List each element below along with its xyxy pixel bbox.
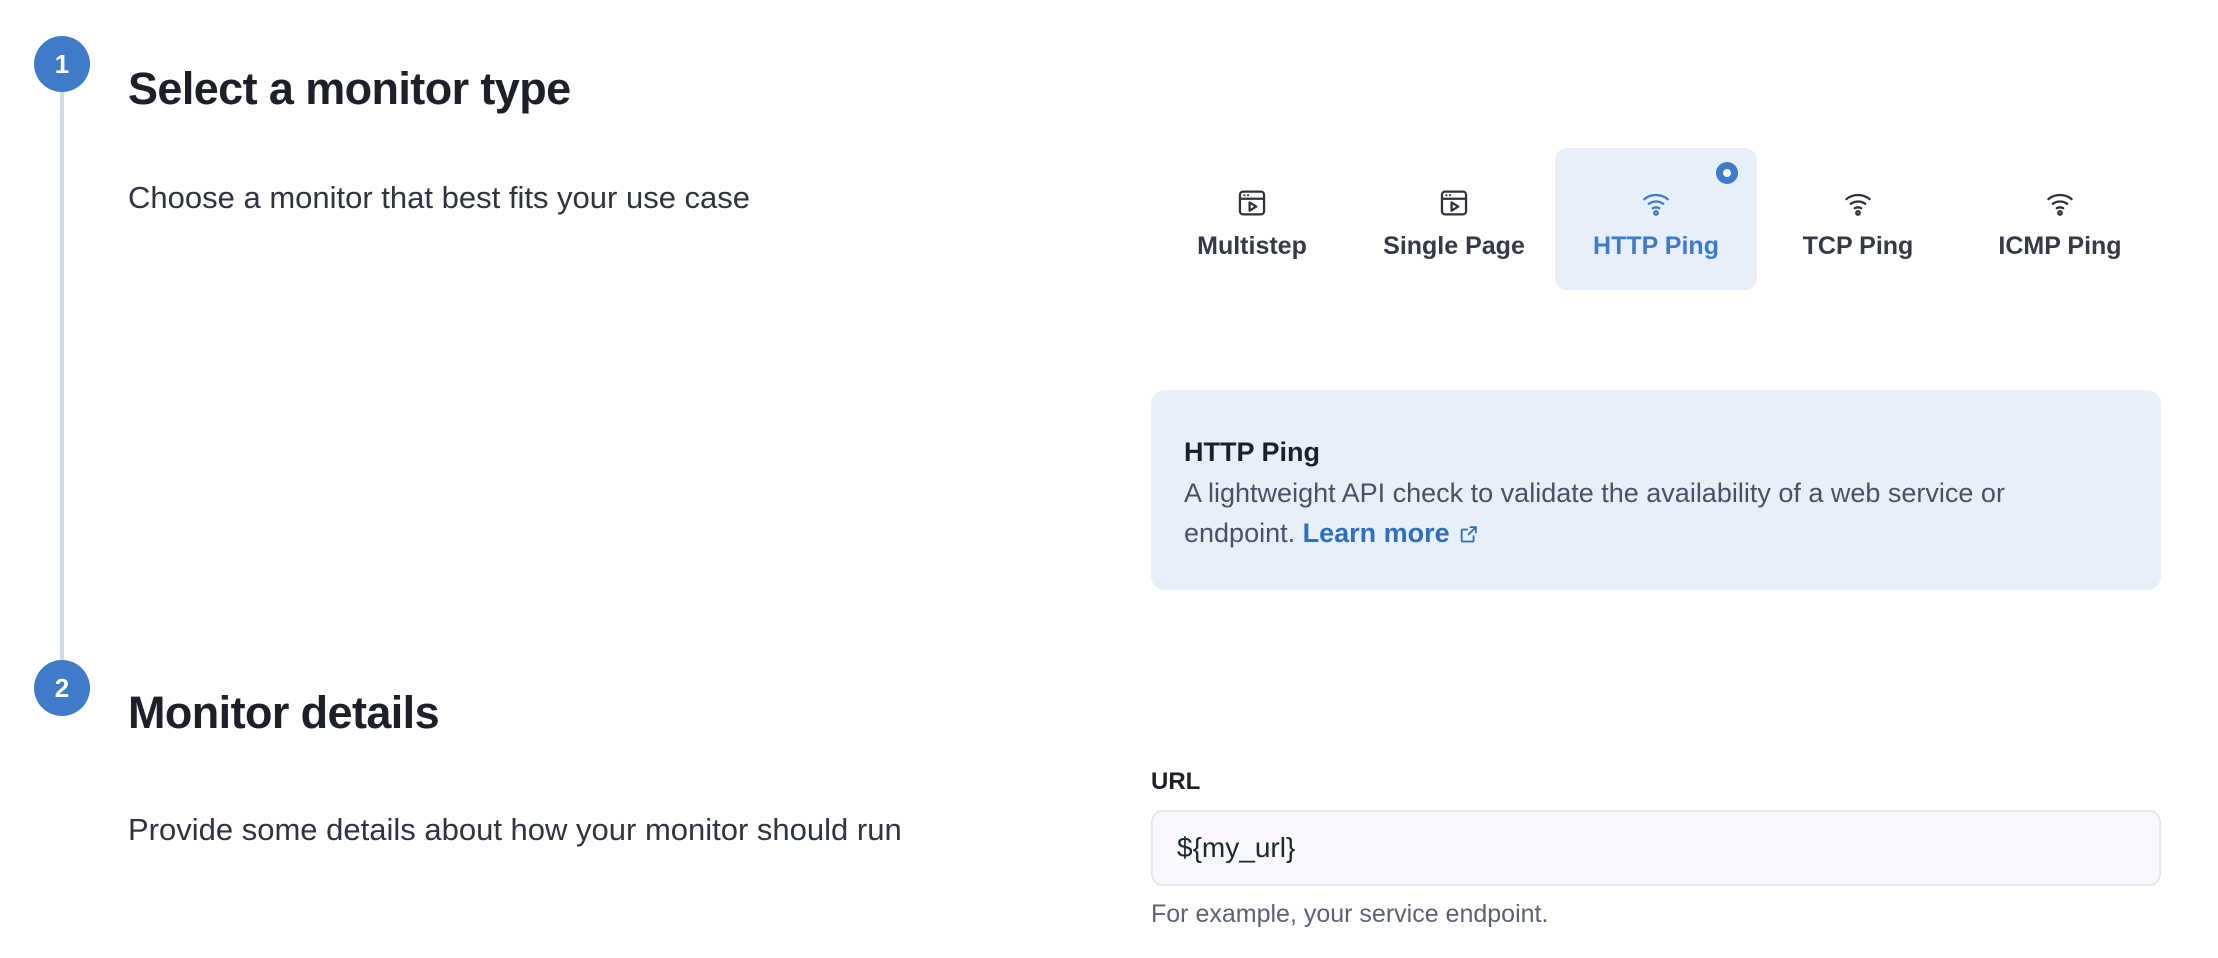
learn-more-link[interactable]: Learn more [1303,518,1450,548]
monitor-type-option-multistep[interactable]: Multistep [1151,148,1353,290]
wifi-icon [1639,186,1673,220]
step-2-title: Monitor details [128,688,439,738]
monitor-type-info-banner: HTTP Ping A lightweight API check to val… [1151,390,2161,590]
monitor-type-label: ICMP Ping [1998,234,2121,259]
stepper-rail: 1 2 [34,36,90,716]
external-link-icon[interactable] [1458,517,1480,539]
step-badge-1: 1 [34,36,90,92]
radio-selected-icon[interactable] [1716,162,1738,184]
step-number-2: 2 [55,675,69,701]
create-monitor-wizard: 1 2 Select a monitor type Choose a monit… [0,0,2218,958]
monitor-type-option-http-ping[interactable]: HTTP Ping [1555,148,1757,290]
step-1-subtitle: Choose a monitor that best fits your use… [128,179,750,216]
monitor-type-label: Multistep [1197,234,1307,259]
step-1-title: Select a monitor type [128,64,571,114]
url-field-group: URL ${my_url} For example, your service … [1151,770,2161,927]
info-banner-title: HTTP Ping [1184,434,2119,470]
monitor-type-label: Single Page [1383,234,1525,259]
monitor-type-option-tcp-ping[interactable]: TCP Ping [1757,148,1959,290]
monitor-type-selector: Multistep Single Page [1151,148,2161,290]
step-number-1: 1 [55,51,69,77]
monitor-type-option-single-page[interactable]: Single Page [1353,148,1555,290]
info-banner-description: A lightweight API check to validate the … [1184,474,2119,552]
url-field-help-text: For example, your service endpoint. [1151,902,2161,927]
wifi-icon [2043,186,2077,220]
browser-play-icon [1437,186,1471,220]
wifi-icon [1841,186,1875,220]
step-badge-2: 2 [34,660,90,716]
url-field-label: URL [1151,770,2161,794]
monitor-type-option-icmp-ping[interactable]: ICMP Ping [1959,148,2161,290]
browser-play-icon [1235,186,1269,220]
stepper-connector-line [60,82,64,708]
monitor-type-label: TCP Ping [1803,234,1914,259]
url-input[interactable]: ${my_url} [1151,810,2161,886]
step-2-subtitle: Provide some details about how your moni… [128,811,902,848]
url-input-value: ${my_url} [1177,832,1295,864]
monitor-type-label: HTTP Ping [1593,234,1719,259]
